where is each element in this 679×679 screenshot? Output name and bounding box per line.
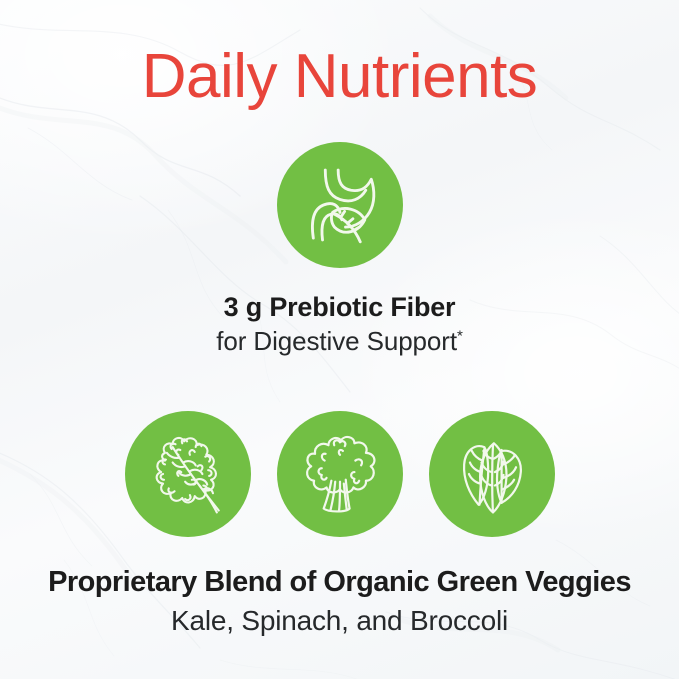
fiber-headline: 3 g Prebiotic Fiber: [216, 291, 462, 325]
infographic-content: Daily Nutrients: [0, 0, 679, 679]
broccoli-icon: [292, 426, 388, 522]
veggie-icon-row: [125, 411, 555, 537]
veggie-blend-headline: Proprietary Blend of Organic Green Veggi…: [48, 564, 631, 600]
prebiotic-fiber-block: 3 g Prebiotic Fiber for Digestive Suppor…: [216, 142, 462, 359]
kale-leaf-icon-circle: [125, 411, 251, 537]
digestive-leaf-icon-circle: [277, 142, 403, 268]
spinach-leaves-icon-circle: [429, 411, 555, 537]
fiber-subline: for Digestive Support*: [216, 325, 462, 359]
fiber-subline-text: for Digestive Support: [216, 326, 457, 356]
kale-leaf-icon: [140, 426, 236, 522]
digestive-leaf-icon: [294, 159, 386, 251]
page-title: Daily Nutrients: [142, 0, 538, 109]
daily-nutrients-infographic: Daily Nutrients: [0, 0, 679, 679]
spinach-leaves-icon: [444, 426, 540, 522]
veggie-blend-subline: Kale, Spinach, and Broccoli: [48, 603, 631, 639]
broccoli-icon-circle: [277, 411, 403, 537]
fiber-footnote-marker: *: [457, 327, 463, 344]
veggie-blend-text-group: Proprietary Blend of Organic Green Veggi…: [48, 564, 631, 640]
fiber-text-group: 3 g Prebiotic Fiber for Digestive Suppor…: [216, 291, 462, 359]
